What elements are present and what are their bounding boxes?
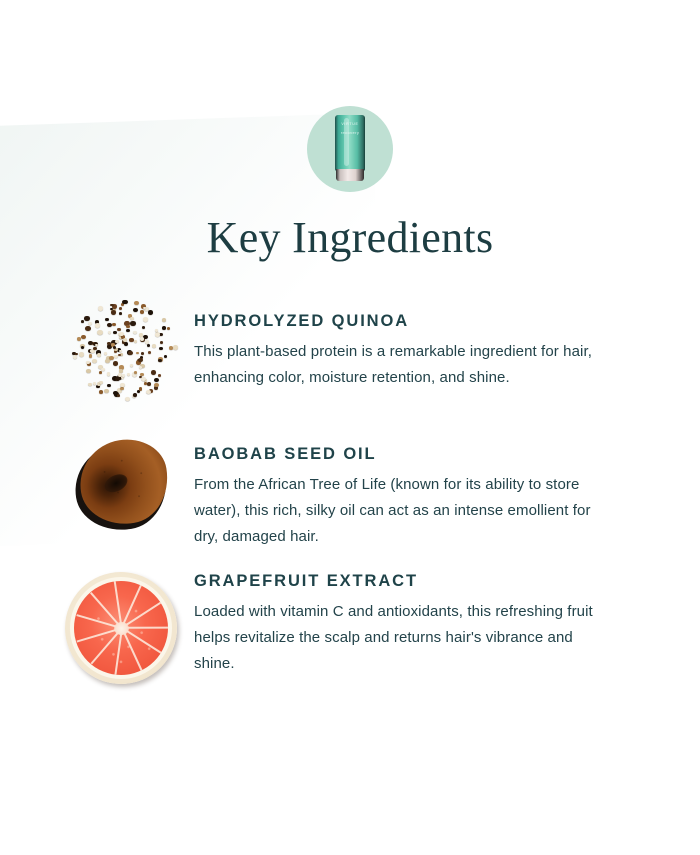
grapefruit-slice-image xyxy=(65,572,177,684)
product-tube-badge: VIRTUE recovery xyxy=(307,106,393,192)
ingredient-name: BAOBAB SEED OIL xyxy=(194,445,642,463)
ingredient-list: HYDROLYZED QUINOA This plant-based prote… xyxy=(0,292,700,712)
grapefruit-figure xyxy=(58,572,184,684)
ingredient-description: This plant-based protein is a remarkable… xyxy=(194,339,612,391)
ingredient-description: Loaded with vitamin C and antioxidants, … xyxy=(194,599,612,676)
quinoa-grains-image xyxy=(63,292,179,404)
tube-body: VIRTUE recovery xyxy=(335,115,365,171)
baobab-seed-image xyxy=(71,438,171,534)
grapefruit-segment-line xyxy=(122,627,168,629)
product-tube-icon: VIRTUE recovery xyxy=(335,115,365,181)
ingredient-text-block: GRAPEFRUIT EXTRACT Loaded with vitamin C… xyxy=(184,572,700,677)
ingredient-description: From the African Tree of Life (known for… xyxy=(194,472,612,549)
ingredient-text-block: BAOBAB SEED OIL From the African Tree of… xyxy=(184,422,700,550)
product-badge-wrap: VIRTUE recovery xyxy=(0,106,700,192)
ingredient-name: GRAPEFRUIT EXTRACT xyxy=(194,572,642,590)
ingredient-name: HYDROLYZED QUINOA xyxy=(194,312,642,330)
tube-cap xyxy=(336,169,364,181)
ingredient-item-hydrolyzed-quinoa: HYDROLYZED QUINOA This plant-based prote… xyxy=(0,292,700,418)
quinoa-figure xyxy=(58,292,184,404)
key-ingredients-page: VIRTUE recovery Key Ingredients HYDROLYZ… xyxy=(0,0,700,855)
ingredient-item-baobab-seed-oil: BAOBAB SEED OIL From the African Tree of… xyxy=(0,422,700,570)
tube-brand-text: VIRTUE xyxy=(335,122,365,126)
tube-label-text: recovery xyxy=(335,130,365,135)
baobab-figure xyxy=(58,422,184,534)
grapefruit-core xyxy=(114,622,129,635)
ingredient-text-block: HYDROLYZED QUINOA This plant-based prote… xyxy=(184,292,700,391)
ingredient-item-grapefruit-extract: GRAPEFRUIT EXTRACT Loaded with vitamin C… xyxy=(0,572,700,712)
page-title: Key Ingredients xyxy=(0,212,700,263)
